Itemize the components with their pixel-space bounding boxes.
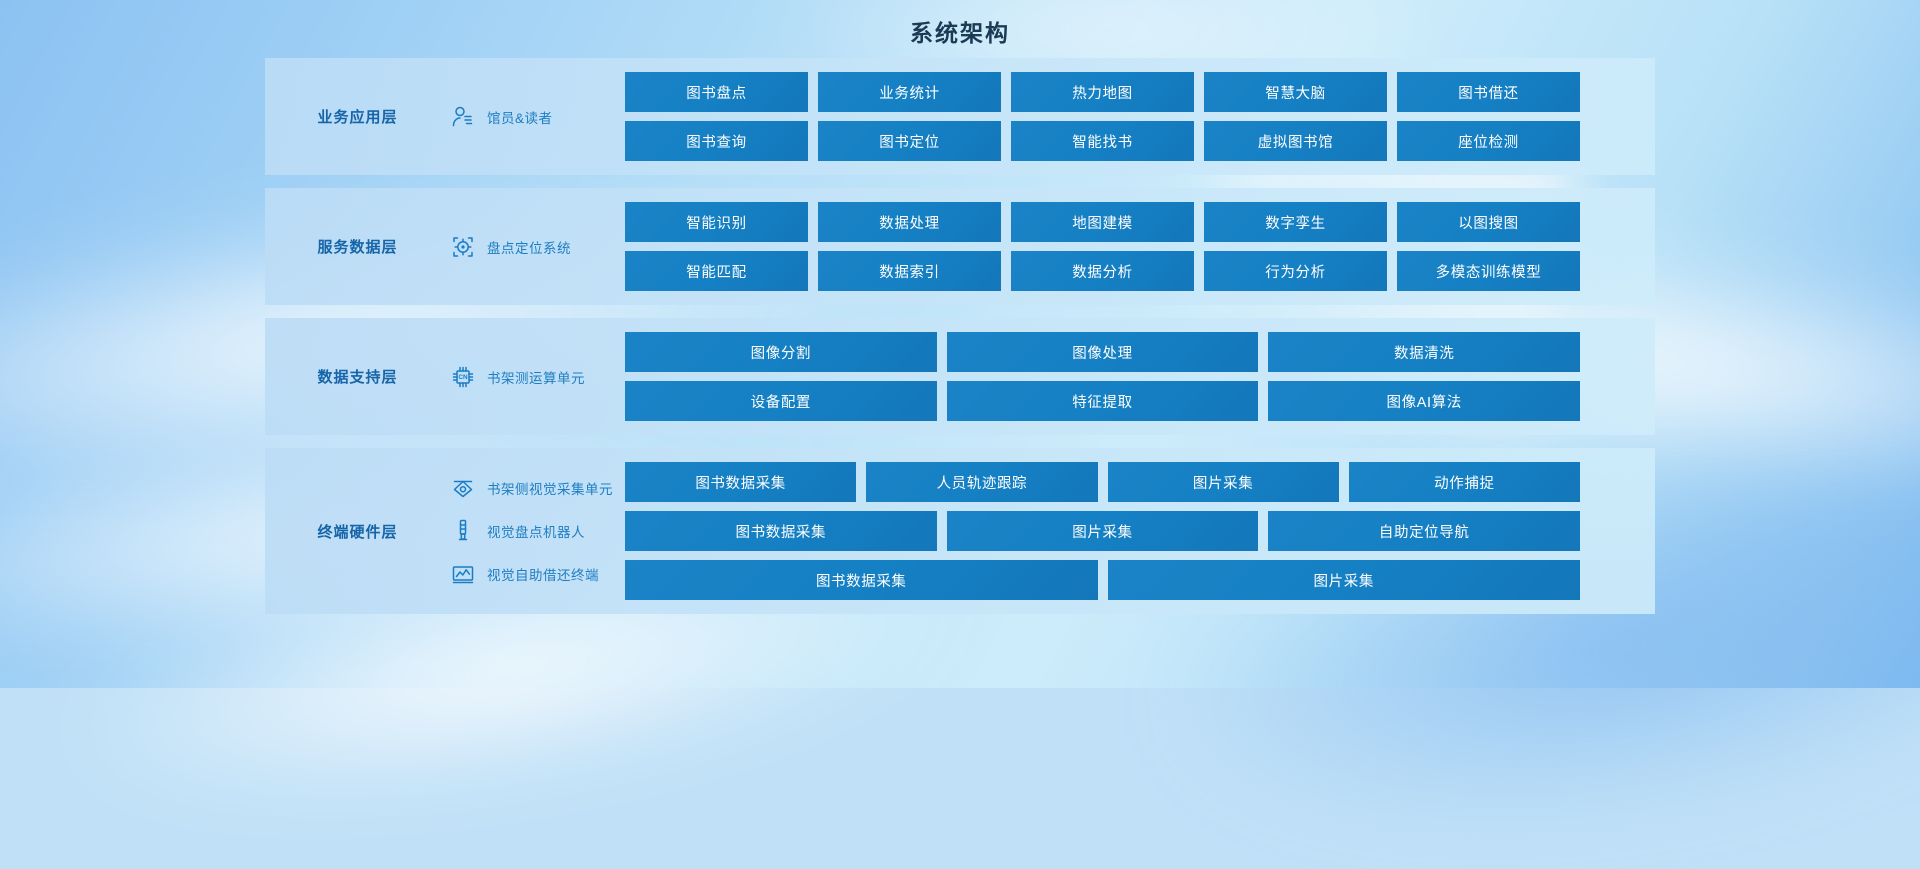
node-button[interactable]: 数据分析 [1011, 251, 1194, 291]
role-item: CN书架测运算单元 [450, 356, 625, 398]
robot-pillar-icon [450, 518, 476, 544]
node-button[interactable]: 图书盘点 [625, 72, 808, 112]
node-grid: 图像分割图像处理数据清洗设备配置特征提取图像AI算法 [625, 332, 1655, 421]
node-button[interactable]: 图书数据采集 [625, 462, 856, 502]
layer-roles: 馆员&读者 [450, 96, 625, 138]
layer-business-application-layer: 业务应用层馆员&读者图书盘点业务统计热力地图智慧大脑图书借还图书查询图书定位智能… [265, 58, 1655, 175]
role-item: 盘点定位系统 [450, 226, 625, 268]
node-button[interactable]: 图片采集 [1108, 462, 1339, 502]
node-row: 智能匹配数据索引数据分析行为分析多模态训练模型 [625, 251, 1580, 291]
node-button[interactable]: 数据清洗 [1268, 332, 1580, 372]
architecture-diagram: 业务应用层馆员&读者图书盘点业务统计热力地图智慧大脑图书借还图书查询图书定位智能… [265, 58, 1655, 614]
node-button[interactable]: 图片采集 [1108, 560, 1581, 600]
role-item: 视觉自助借还终端 [450, 553, 625, 596]
role-label: 馆员&读者 [487, 107, 553, 127]
node-button[interactable]: 图书借还 [1397, 72, 1580, 112]
node-button[interactable]: 图片采集 [947, 511, 1259, 551]
node-button[interactable]: 数字孪生 [1204, 202, 1387, 242]
node-button[interactable]: 虚拟图书馆 [1204, 121, 1387, 161]
layer-roles: CN书架测运算单元 [450, 356, 625, 398]
node-button[interactable]: 图像AI算法 [1268, 381, 1580, 421]
node-button[interactable]: 图书定位 [818, 121, 1001, 161]
node-row: 设备配置特征提取图像AI算法 [625, 381, 1580, 421]
node-button[interactable]: 人员轨迹跟踪 [866, 462, 1097, 502]
node-row: 图书数据采集图片采集自助定位导航 [625, 511, 1580, 551]
node-button[interactable]: 智能匹配 [625, 251, 808, 291]
node-button[interactable]: 行为分析 [1204, 251, 1387, 291]
node-button[interactable]: 智能找书 [1011, 121, 1194, 161]
node-row: 图书数据采集图片采集 [625, 560, 1580, 600]
node-button[interactable]: 以图搜图 [1397, 202, 1580, 242]
node-row: 图书数据采集人员轨迹跟踪图片采集动作捕捉 [625, 462, 1580, 502]
node-button[interactable]: 业务统计 [818, 72, 1001, 112]
node-row: 智能识别数据处理地图建模数字孪生以图搜图 [625, 202, 1580, 242]
layer-title: 业务应用层 [265, 106, 450, 127]
node-button[interactable]: 动作捕捉 [1349, 462, 1580, 502]
role-item: 视觉盘点机器人 [450, 510, 625, 553]
layer-title: 服务数据层 [265, 236, 450, 257]
layer-title: 终端硬件层 [265, 521, 450, 542]
node-button[interactable]: 图书数据采集 [625, 511, 937, 551]
node-row: 图像分割图像处理数据清洗 [625, 332, 1580, 372]
node-row: 图书查询图书定位智能找书虚拟图书馆座位检测 [625, 121, 1580, 161]
role-label: 盘点定位系统 [487, 237, 571, 257]
role-label: 视觉盘点机器人 [487, 521, 585, 541]
layer-terminal-hardware-layer: 终端硬件层书架侧视觉采集单元视觉盘点机器人视觉自助借还终端图书数据采集人员轨迹跟… [265, 448, 1655, 614]
layer-roles: 盘点定位系统 [450, 226, 625, 268]
node-grid: 图书盘点业务统计热力地图智慧大脑图书借还图书查询图书定位智能找书虚拟图书馆座位检… [625, 72, 1655, 161]
layer-roles: 书架侧视觉采集单元视觉盘点机器人视觉自助借还终端 [450, 467, 625, 596]
layer-title: 数据支持层 [265, 366, 450, 387]
role-label: 书架侧视觉采集单元 [487, 478, 613, 498]
target-crosshair-icon [450, 234, 476, 260]
layer-data-support-layer: 数据支持层CN书架测运算单元图像分割图像处理数据清洗设备配置特征提取图像AI算法 [265, 318, 1655, 435]
node-button[interactable]: 设备配置 [625, 381, 937, 421]
page-title: 系统架构 [0, 14, 1920, 48]
node-button[interactable]: 热力地图 [1011, 72, 1194, 112]
role-item: 书架侧视觉采集单元 [450, 467, 625, 510]
role-label: 书架测运算单元 [487, 367, 585, 387]
cpu-chip-icon: CN [450, 364, 476, 390]
node-button[interactable]: 多模态训练模型 [1397, 251, 1580, 291]
node-row: 图书盘点业务统计热力地图智慧大脑图书借还 [625, 72, 1580, 112]
svg-text:CN: CN [458, 374, 468, 381]
node-button[interactable]: 图像处理 [947, 332, 1259, 372]
monitor-chart-icon [450, 561, 476, 587]
eye-camera-icon [450, 475, 476, 501]
role-label: 视觉自助借还终端 [487, 564, 599, 584]
node-button[interactable]: 地图建模 [1011, 202, 1194, 242]
node-button[interactable]: 自助定位导航 [1268, 511, 1580, 551]
person-icon [450, 104, 476, 130]
node-button[interactable]: 图书数据采集 [625, 560, 1098, 600]
node-button[interactable]: 座位检测 [1397, 121, 1580, 161]
node-button[interactable]: 数据处理 [818, 202, 1001, 242]
node-button[interactable]: 特征提取 [947, 381, 1259, 421]
node-button[interactable]: 智能识别 [625, 202, 808, 242]
node-grid: 智能识别数据处理地图建模数字孪生以图搜图智能匹配数据索引数据分析行为分析多模态训… [625, 202, 1655, 291]
role-item: 馆员&读者 [450, 96, 625, 138]
node-button[interactable]: 数据索引 [818, 251, 1001, 291]
node-grid: 图书数据采集人员轨迹跟踪图片采集动作捕捉图书数据采集图片采集自助定位导航图书数据… [625, 462, 1655, 600]
node-button[interactable]: 图书查询 [625, 121, 808, 161]
node-button[interactable]: 图像分割 [625, 332, 937, 372]
node-button[interactable]: 智慧大脑 [1204, 72, 1387, 112]
layer-service-data-layer: 服务数据层盘点定位系统智能识别数据处理地图建模数字孪生以图搜图智能匹配数据索引数… [265, 188, 1655, 305]
